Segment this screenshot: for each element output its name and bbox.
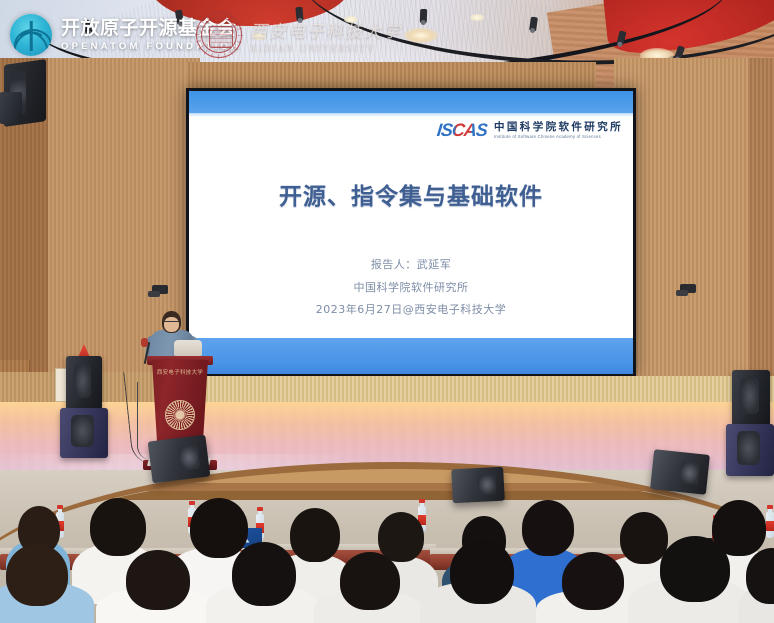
slide-subtitle-block: 报告人：武延军 中国科学院软件研究所 2023年6月27日@西安电子科技大学	[189, 254, 633, 322]
lectern-label: 西安电子科技大学	[152, 368, 208, 376]
laptop-on-lectern	[174, 340, 202, 356]
subwoofer-speaker-right	[726, 424, 774, 476]
slide-top-band	[189, 91, 633, 113]
recessed-downlight-icon	[252, 33, 266, 40]
audience-member-head	[450, 540, 514, 604]
audience-member-head	[126, 550, 190, 610]
water-bottle	[766, 512, 774, 538]
iscas-logo: ISCAS 中国科学院软件研究所 Institute of Software C…	[437, 121, 623, 139]
audience-member-head	[6, 544, 68, 606]
track-spotlight-icon	[295, 7, 303, 22]
audience-member-head	[290, 508, 340, 562]
lecture-hall-photo: ISCAS 中国科学院软件研究所 Institute of Software C…	[0, 0, 774, 623]
recessed-downlight-icon	[470, 14, 484, 21]
audience-member-head	[620, 512, 668, 564]
iscas-name-en: Institute of Software Chinese Academy of…	[494, 134, 623, 139]
iscas-name-cn: 中国科学院软件研究所	[494, 121, 623, 133]
track-spotlight-icon	[420, 9, 427, 23]
wall-camera-icon	[152, 285, 168, 294]
stage-monitor-speaker	[148, 435, 211, 484]
slide-presenter-line: 报告人：武延军	[189, 254, 633, 277]
glasses-icon	[164, 321, 179, 324]
slide-bottom-band	[189, 338, 633, 374]
recessed-downlight-icon	[344, 16, 358, 23]
audience-member-head	[562, 552, 624, 610]
audience-member-head	[522, 500, 574, 556]
slide-title: 开源、指令集与基础软件	[189, 177, 633, 211]
wall-camera-icon	[680, 284, 696, 293]
recessed-downlight-icon	[404, 28, 438, 43]
stage-monitor-speaker	[650, 449, 710, 495]
presentation-slide: ISCAS 中国科学院软件研究所 Institute of Software C…	[189, 91, 633, 374]
slide-date-venue-line: 2023年6月27日@西安电子科技大学	[189, 299, 633, 322]
subwoofer-speaker	[60, 408, 108, 458]
line-array-speaker	[66, 356, 102, 410]
projection-screen: ISCAS 中国科学院软件研究所 Institute of Software C…	[186, 88, 636, 377]
stage-monitor-speaker	[451, 467, 505, 504]
presenter-face	[164, 317, 179, 332]
line-array-speaker-right	[732, 370, 770, 426]
slide-affiliation-line: 中国科学院软件研究所	[189, 277, 633, 300]
iscas-wordmark-icon: ISCAS	[436, 121, 488, 139]
audience-member-head	[90, 498, 146, 556]
iscas-logo-text: 中国科学院软件研究所 Institute of Software Chinese…	[494, 121, 623, 139]
audience-member-head	[190, 498, 248, 558]
xidian-emblem-icon	[165, 400, 195, 430]
audience-member-head	[232, 542, 296, 606]
audience-member-head	[340, 552, 400, 610]
wall-mounted-speaker-icon	[0, 92, 22, 124]
audience-member-head	[378, 512, 424, 562]
audience-member-head	[660, 536, 730, 602]
